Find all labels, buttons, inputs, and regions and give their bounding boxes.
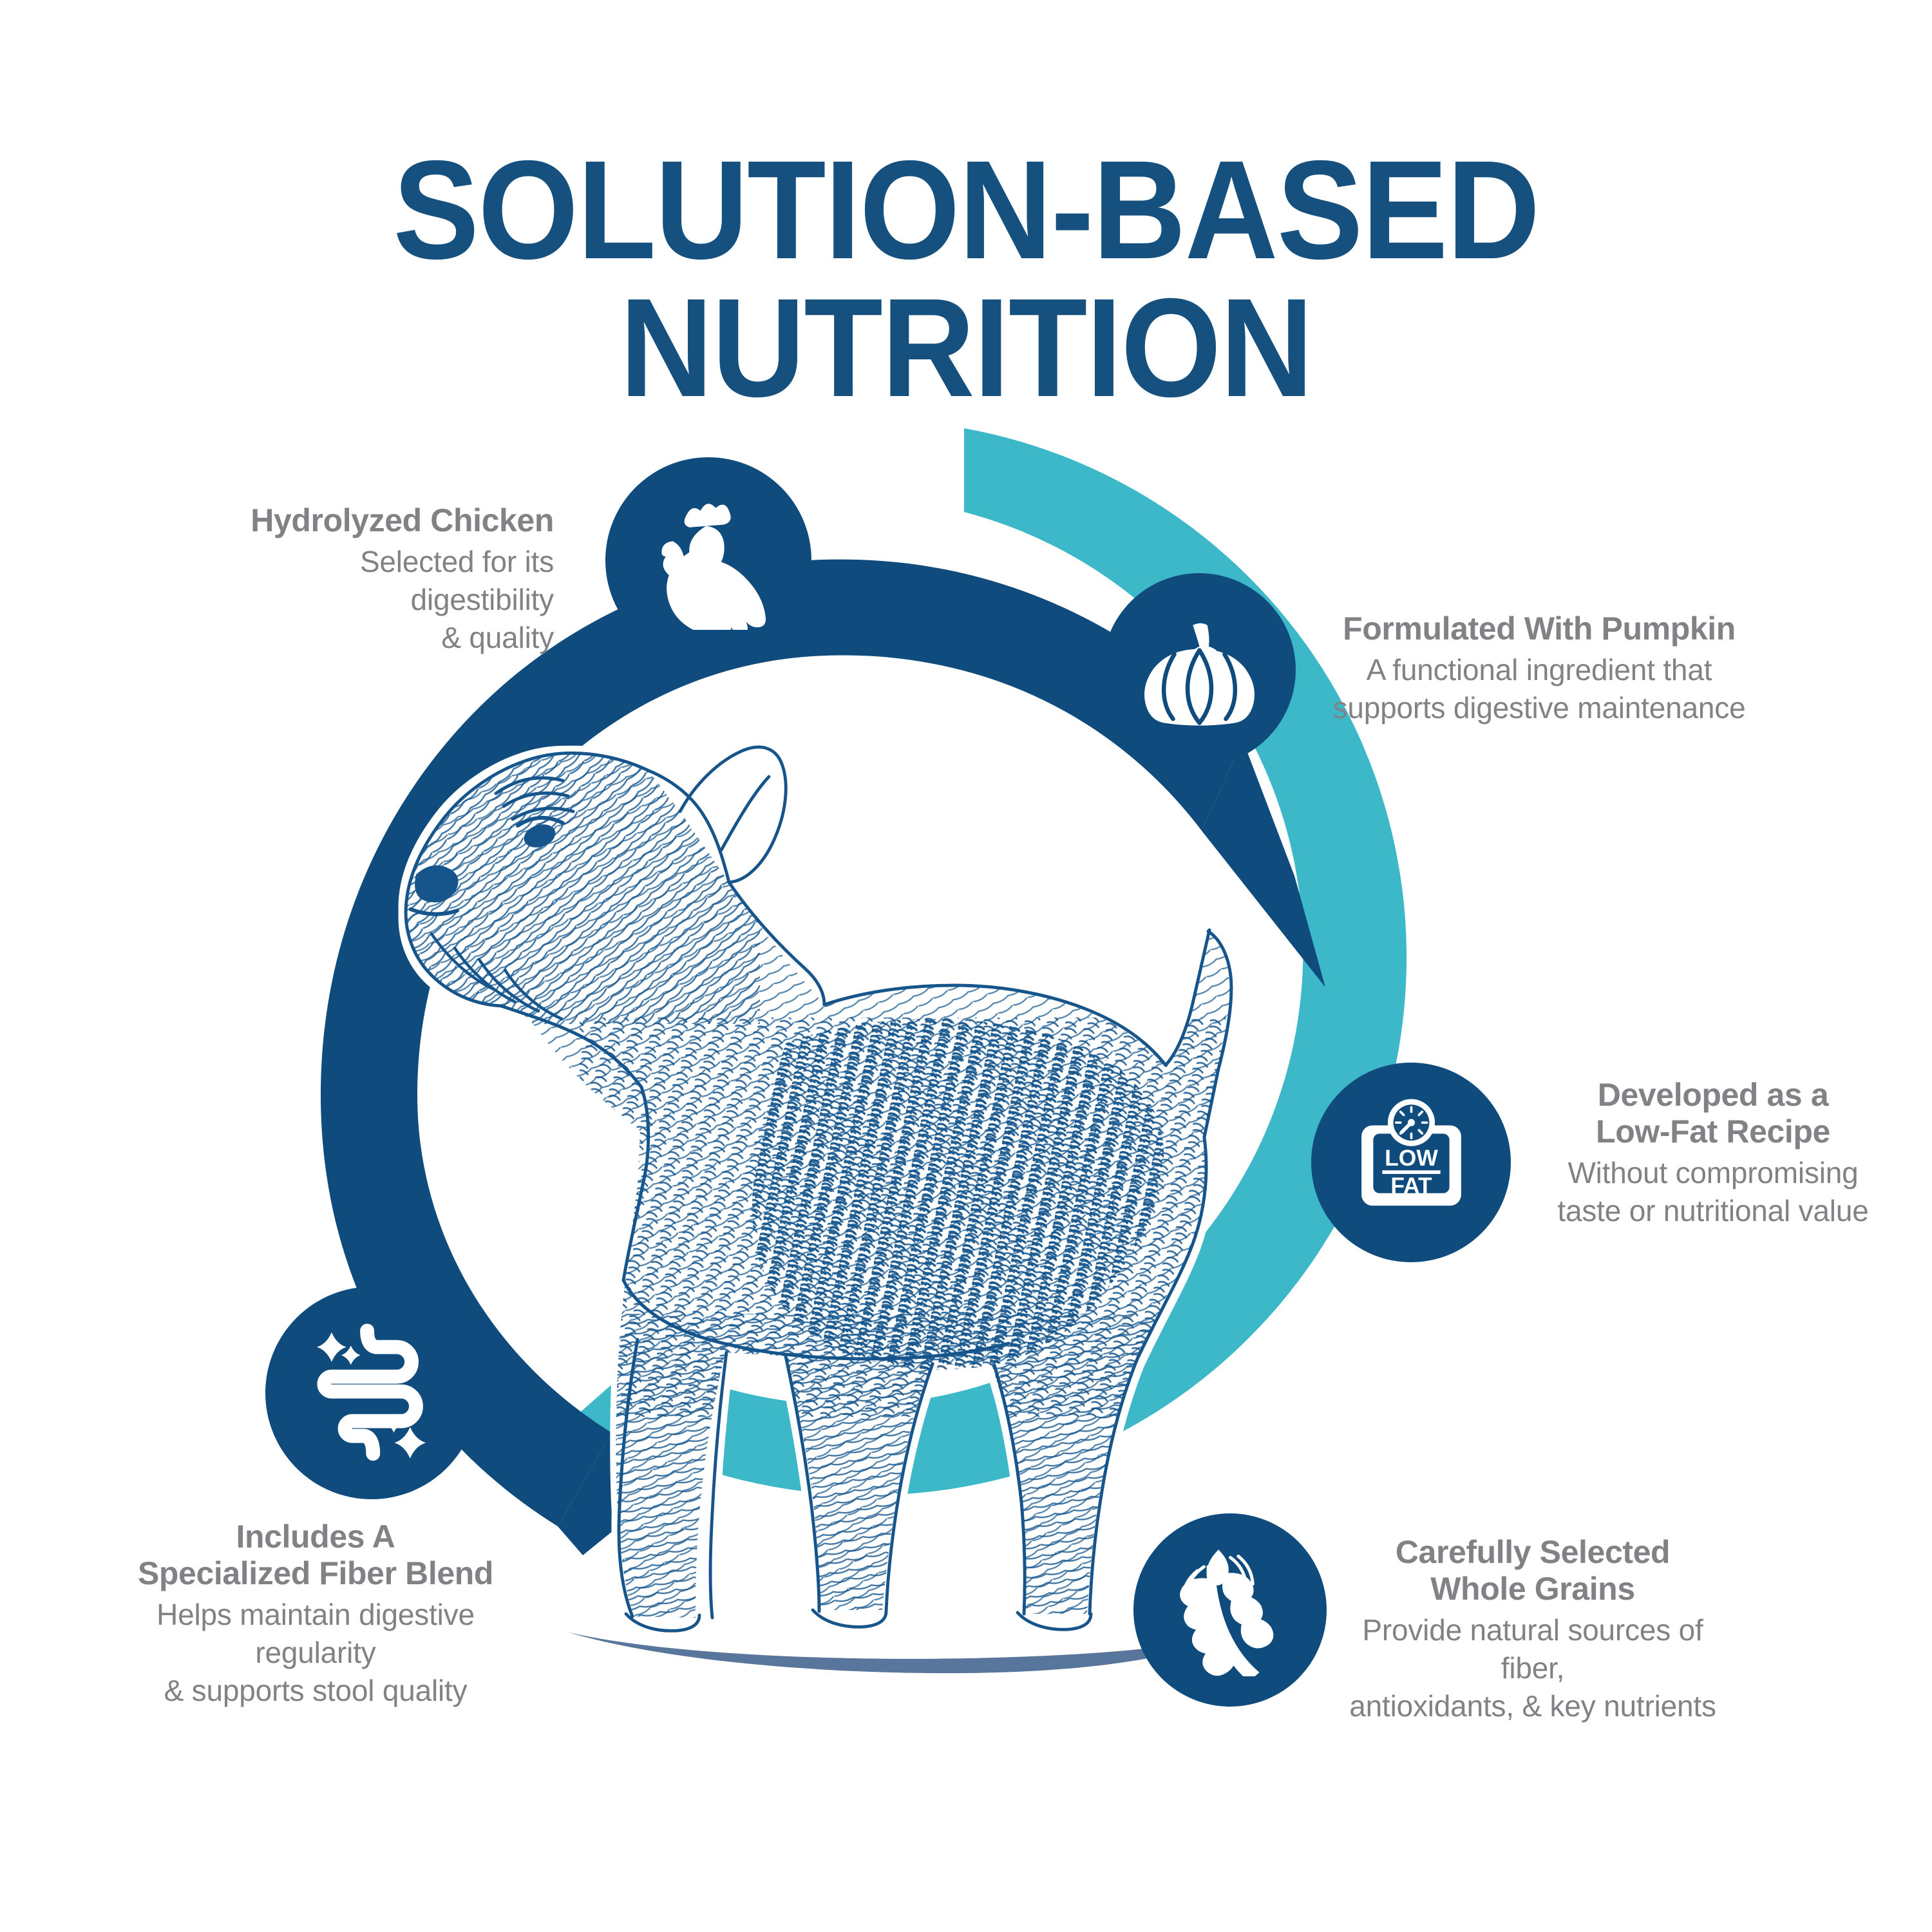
feature-icon-specialized-fiber-blend[interactable] — [265, 1287, 478, 1499]
feature-subtitle-fiber-blend-line1: Helps maintain digestive regularity — [97, 1596, 535, 1672]
wheat-grain-icon — [1164, 1544, 1296, 1676]
feature-icon-whole-grains[interactable] — [1133, 1513, 1327, 1707]
intestine-sparkle-icon — [298, 1319, 446, 1467]
feature-subtitle-low-fat-line2: taste or nutritional value — [1546, 1192, 1880, 1230]
feature-subtitle-pumpkin-line2: supports digestive maintenance — [1327, 689, 1752, 727]
feature-icon-low-fat-recipe[interactable]: LOW FAT — [1311, 1063, 1511, 1262]
feature-subtitle-hydrolyzed-chicken-line1: Selected for its digestibility — [213, 543, 554, 619]
pumpkin-icon — [1133, 604, 1265, 736]
feature-title-fiber-blend-line1: Includes A — [97, 1519, 535, 1555]
feature-text-low-fat-recipe: Developed as a Low-Fat Recipe Without co… — [1546, 1077, 1880, 1230]
feature-text-specialized-fiber-blend: Includes A Specialized Fiber Blend Helps… — [97, 1519, 535, 1710]
feature-subtitle-whole-grains-line2: antioxidants, & key nutrients — [1327, 1687, 1739, 1725]
low-fat-icon-text-fat: FAT — [1390, 1172, 1432, 1198]
feature-icon-formulated-with-pumpkin[interactable] — [1103, 573, 1296, 766]
feature-subtitle-low-fat-line1: Without compromising — [1546, 1154, 1880, 1192]
feature-icon-hydrolyzed-chicken[interactable] — [605, 457, 811, 663]
low-fat-icon-text-low: LOW — [1385, 1144, 1438, 1170]
low-fat-scale-icon: LOW FAT — [1342, 1094, 1481, 1232]
feature-title-hydrolyzed-chicken: Hydrolyzed Chicken — [213, 502, 554, 539]
infographic-canvas: SOLUTION-BASED NUTRITION — [0, 0, 1932, 1932]
feature-title-formulated-with-pumpkin: Formulated With Pumpkin — [1327, 611, 1752, 647]
feature-title-whole-grains-line2: Whole Grains — [1327, 1571, 1739, 1607]
feature-title-low-fat-line2: Low-Fat Recipe — [1546, 1113, 1880, 1150]
feature-text-hydrolyzed-chicken: Hydrolyzed Chicken Selected for its dige… — [213, 502, 554, 657]
feature-subtitle-fiber-blend-line2: & supports stool quality — [97, 1672, 535, 1710]
chicken-icon — [639, 491, 778, 630]
feature-title-fiber-blend-line2: Specialized Fiber Blend — [97, 1555, 535, 1592]
feature-subtitle-hydrolyzed-chicken-line2: & quality — [213, 619, 554, 657]
feature-subtitle-whole-grains-line1: Provide natural sources of fiber, — [1327, 1611, 1739, 1687]
feature-title-whole-grains-line1: Carefully Selected — [1327, 1534, 1739, 1571]
feature-text-formulated-with-pumpkin: Formulated With Pumpkin A functional ing… — [1327, 611, 1752, 727]
feature-text-whole-grains: Carefully Selected Whole Grains Provide … — [1327, 1534, 1739, 1725]
feature-title-low-fat-line1: Developed as a — [1546, 1077, 1880, 1113]
feature-subtitle-pumpkin-line1: A functional ingredient that — [1327, 651, 1752, 689]
